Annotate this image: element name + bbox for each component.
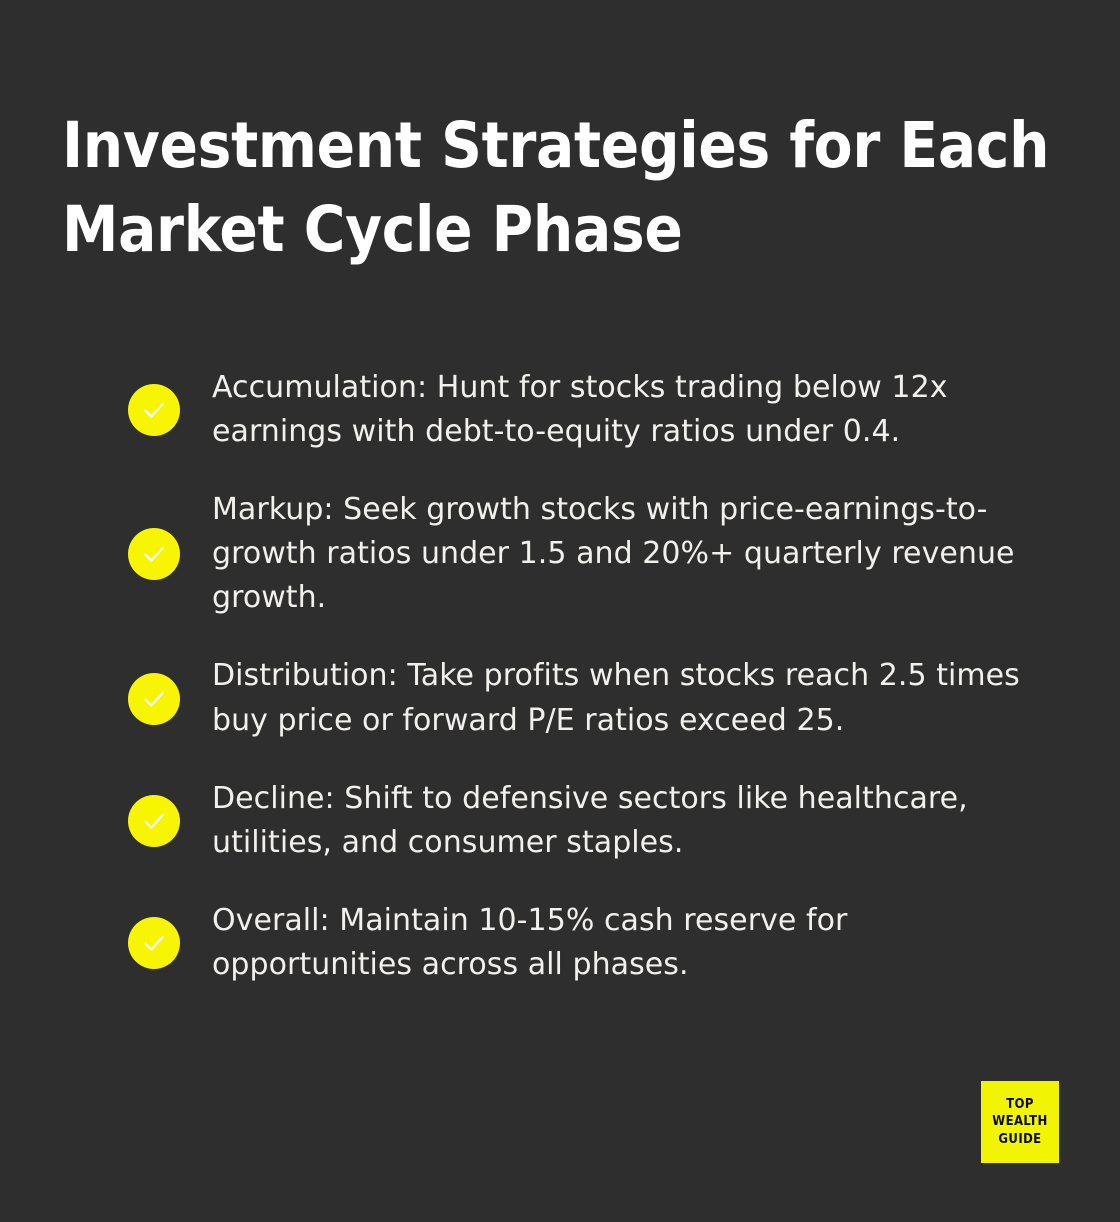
check-icon: [128, 384, 180, 436]
list-item: Markup: Seek growth stocks with price-ea…: [128, 488, 1058, 620]
check-icon: [128, 528, 180, 580]
logo-line-top: TOP: [1006, 1097, 1034, 1112]
list-item: Distribution: Take profits when stocks r…: [128, 654, 1058, 742]
list-item: Decline: Shift to defensive sectors like…: [128, 777, 1058, 865]
strategy-list: Accumulation: Hunt for stocks trading be…: [128, 366, 1058, 987]
check-icon: [128, 795, 180, 847]
check-icon: [128, 673, 180, 725]
title-block: Investment Strategies for Each Market Cy…: [62, 104, 1062, 272]
logo-line-guide: GUIDE: [998, 1132, 1041, 1147]
logo-line-wealth: WEALTH: [992, 1114, 1047, 1129]
list-item-label: Accumulation: Hunt for stocks trading be…: [212, 366, 1050, 454]
list-item-label: Decline: Shift to defensive sectors like…: [212, 777, 1050, 865]
brand-logo: TOP WEALTH GUIDE: [981, 1081, 1059, 1163]
poster-canvas: Investment Strategies for Each Market Cy…: [0, 0, 1120, 1222]
list-item-label: Distribution: Take profits when stocks r…: [212, 654, 1050, 742]
check-icon: [128, 917, 180, 969]
page-title: Investment Strategies for Each Market Cy…: [62, 104, 1062, 272]
list-item-label: Markup: Seek growth stocks with price-ea…: [212, 488, 1050, 620]
list-item: Accumulation: Hunt for stocks trading be…: [128, 366, 1058, 454]
list-item: Overall: Maintain 10-15% cash reserve fo…: [128, 899, 1058, 987]
list-item-label: Overall: Maintain 10-15% cash reserve fo…: [212, 899, 1050, 987]
